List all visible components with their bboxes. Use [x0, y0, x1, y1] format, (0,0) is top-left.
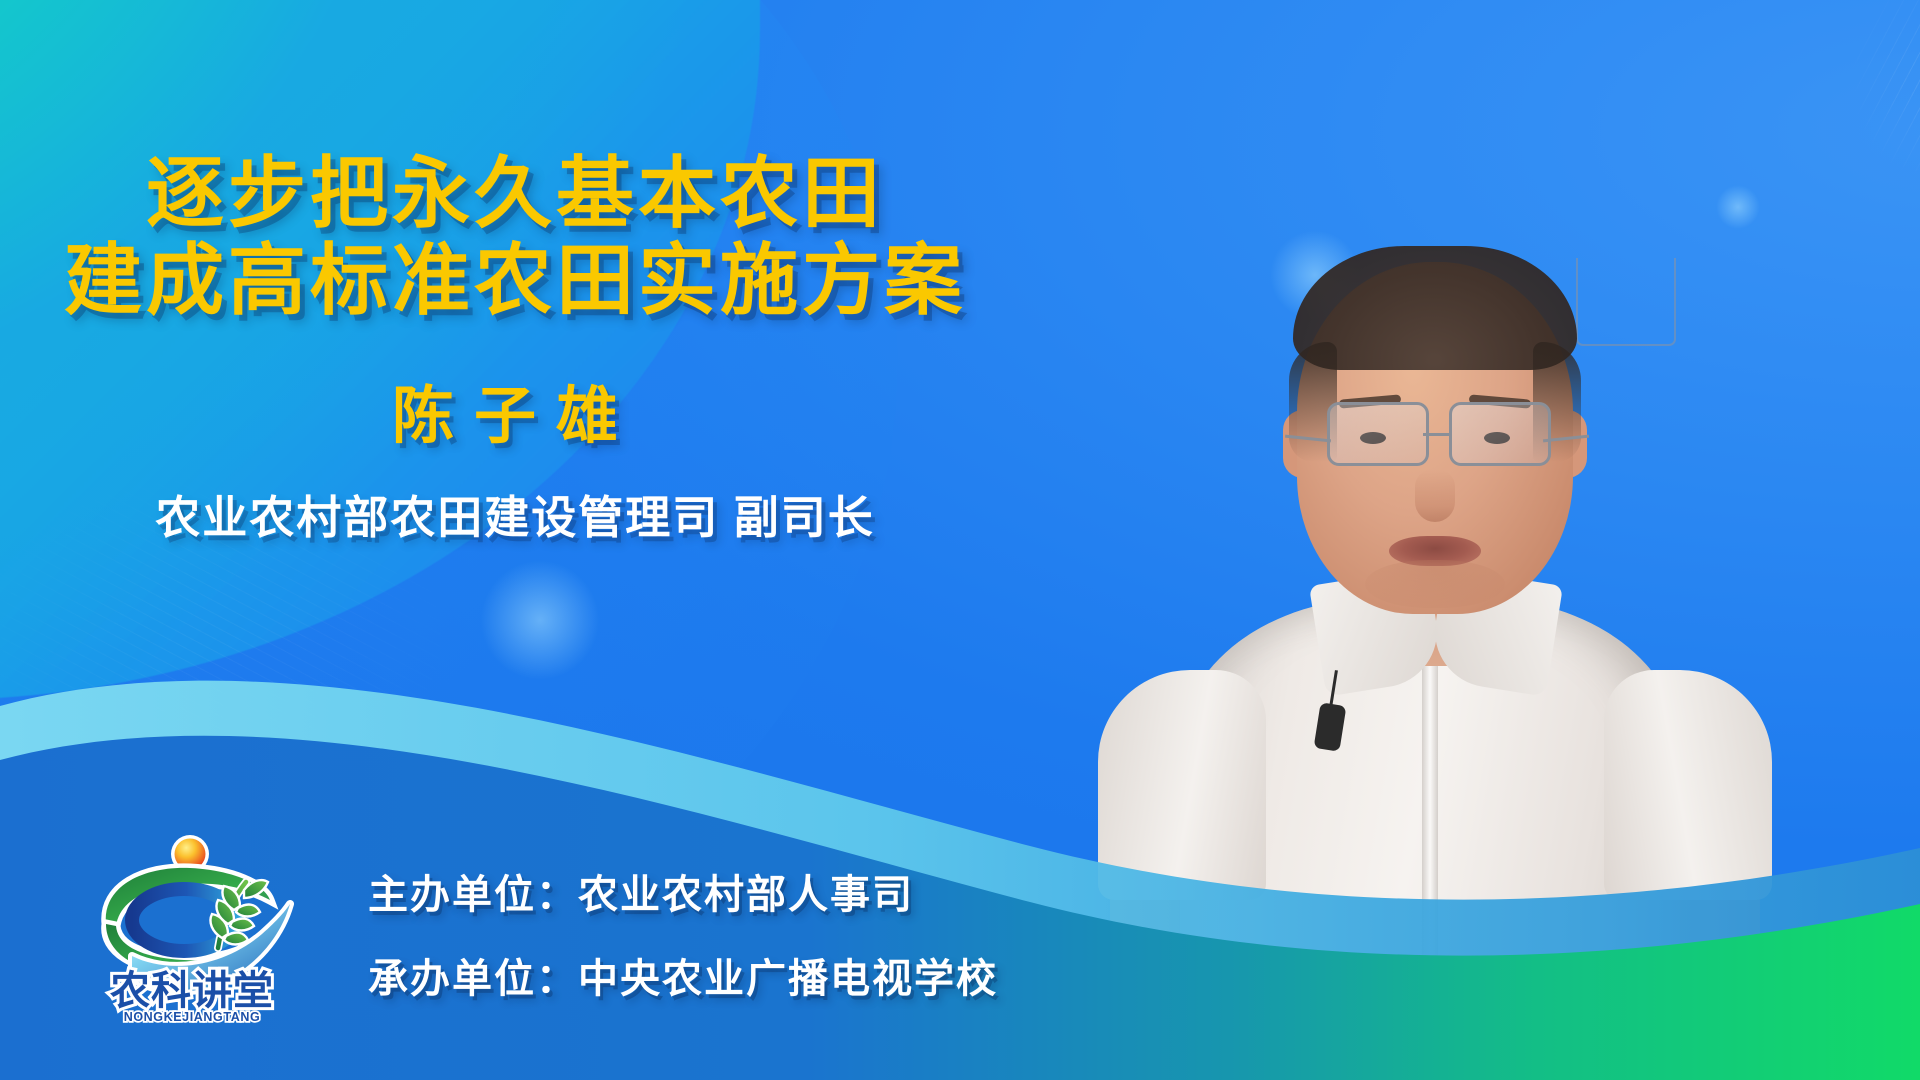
- presenter-glasses-left-lens: [1327, 402, 1429, 466]
- logo-name-pinyin: NONGKEJIANGTANG: [124, 1010, 261, 1024]
- presenter-glasses-bridge: [1423, 433, 1449, 436]
- presenter-chin: [1365, 560, 1505, 608]
- presenter-nose: [1415, 470, 1455, 522]
- logo-name-cn: 农科讲堂: [110, 969, 274, 1013]
- footer-host-line: 主办单位：农业农村部人事司: [368, 862, 998, 920]
- speaker-role: 农业农村部农田建设管理司 副司长: [0, 481, 1030, 546]
- footer-operator-line: 承办单位：中央农业广播电视学校: [368, 946, 998, 1004]
- title-line-1: 逐步把永久基本农田: [0, 150, 1030, 237]
- footer-organizations: 主办单位：农业农村部人事司 承办单位：中央农业广播电视学校: [368, 862, 998, 1004]
- presenter-shirt-pocket: [1576, 258, 1676, 346]
- speaker-name: 陈子雄: [0, 365, 1030, 455]
- title-line-2: 建成高标准农田实施方案: [0, 237, 1030, 324]
- slide-stage: 逐步把永久基本农田 建成高标准农田实施方案 陈子雄 农业农村部农田建设管理司 副…: [0, 0, 1920, 1080]
- nongke-jiangtang-logo: 农科讲堂 NONGKEJIANGTANG: [72, 828, 312, 1028]
- title-block: 逐步把永久基本农田 建成高标准农田实施方案 陈子雄 农业农村部农田建设管理司 副…: [0, 150, 1030, 546]
- presenter-glasses-right-lens: [1449, 402, 1551, 466]
